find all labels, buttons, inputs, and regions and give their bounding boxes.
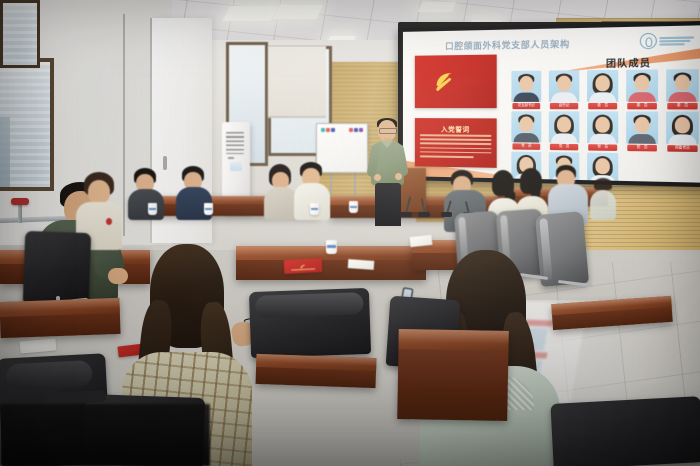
member-photo — [666, 69, 699, 102]
office-chair[interactable] — [550, 396, 700, 466]
member-photo — [587, 111, 618, 143]
member-photo — [511, 71, 541, 102]
member-photo — [626, 69, 658, 101]
attendee-5 — [264, 164, 298, 220]
member-nameplate: 党支部书记 — [512, 103, 540, 109]
member-nameplate: 党 员 — [588, 144, 617, 151]
ceiling-light — [222, 6, 277, 21]
air-conditioner-vent — [226, 132, 244, 154]
conference-table — [0, 298, 121, 338]
office-chair[interactable] — [23, 231, 91, 305]
presenter-hand — [374, 174, 381, 181]
slide-title: 口腔颌面外科党支部人员架构 — [445, 38, 570, 53]
team-member-card: 委 员 — [624, 69, 660, 109]
red-valve-handle[interactable] — [11, 198, 29, 205]
member-nameplate: 预备党员 — [667, 145, 697, 152]
team-member-card: 党支部书记 — [509, 71, 543, 110]
university-hospital-logo-icon — [640, 32, 694, 49]
member-photo — [549, 111, 580, 143]
window-blind — [3, 3, 37, 65]
member-photo — [511, 111, 541, 142]
microphone-base — [441, 212, 452, 217]
party-badge — [106, 218, 112, 225]
team-member-grid: 党支部书记副书记委 员委 员委 员党 员党 员党 员党 员预备党员预备党员积极分… — [509, 69, 700, 183]
foreground-shadow — [0, 404, 210, 466]
member-nameplate: 委 员 — [588, 103, 617, 109]
attendee-13 — [590, 178, 616, 220]
door[interactable] — [123, 14, 125, 236]
member-nameplate: 党 员 — [512, 143, 540, 150]
whiteboard-stand — [330, 170, 356, 196]
party-oath-box: 入党誓词 — [415, 118, 497, 168]
window — [0, 0, 40, 68]
ceiling-light — [418, 2, 457, 12]
paper-cup — [310, 203, 319, 215]
team-members-heading: 团队成员 — [559, 55, 700, 71]
member-photo — [587, 70, 618, 102]
member-nameplate: 委 员 — [627, 103, 657, 109]
party-constitution-booklet — [284, 258, 323, 274]
member-nameplate: 党 员 — [627, 145, 657, 152]
attendee-3 — [128, 168, 164, 220]
presenter-trousers — [375, 183, 401, 226]
conference-table — [256, 354, 377, 388]
team-member-card: 预备党员 — [664, 112, 700, 152]
exterior-building — [0, 117, 10, 187]
conference-table — [397, 329, 509, 421]
team-member-card: 党 员 — [547, 111, 582, 150]
air-conditioner-display[interactable] — [230, 162, 242, 171]
team-member-card: 副书记 — [547, 70, 582, 109]
chair-headrest — [5, 360, 92, 390]
member-photo — [666, 112, 699, 145]
team-member-card: 委 员 — [664, 69, 700, 109]
microphone-base — [418, 212, 430, 217]
glasses-icon — [379, 128, 397, 134]
office-chair[interactable] — [249, 288, 371, 358]
meeting-room-photo: 口腔颌面外科党支部人员架构 — [0, 0, 700, 466]
projection-screen: 口腔颌面外科党支部人员架构 — [398, 21, 700, 187]
paper-cup — [148, 203, 157, 215]
ceiling-light — [273, 5, 324, 19]
paper-document — [348, 259, 375, 270]
presenter — [368, 118, 410, 226]
chair-headrest — [255, 292, 364, 318]
window-blind — [268, 46, 326, 118]
paper-cup — [349, 201, 358, 213]
window — [0, 58, 54, 191]
team-member-card: 委 员 — [585, 70, 621, 110]
party-oath-title: 入党誓词 — [415, 123, 497, 134]
projected-slide: 口腔颌面外科党支部人员架构 — [403, 25, 700, 182]
party-flag — [415, 55, 497, 109]
team-member-card: 党 员 — [509, 111, 543, 150]
whiteboard-magnets — [321, 128, 335, 132]
member-nameplate: 委 员 — [667, 103, 697, 110]
microphone-base — [400, 212, 412, 217]
presenter-hand — [395, 173, 402, 180]
member-photo — [626, 111, 658, 143]
member-photo — [549, 70, 580, 102]
air-conditioner-brand — [228, 157, 234, 159]
party-oath-text — [420, 134, 492, 160]
wall-pipe — [18, 205, 22, 223]
team-member-card: 党 员 — [624, 111, 660, 151]
paper-cup — [326, 240, 337, 254]
team-member-card: 党 员 — [585, 111, 621, 151]
whiteboard-magnets — [349, 128, 363, 132]
member-nameplate: 党 员 — [550, 144, 578, 151]
hammer-sickle-icon — [431, 67, 457, 94]
paper-cup — [204, 203, 213, 215]
member-nameplate: 副书记 — [550, 103, 578, 109]
